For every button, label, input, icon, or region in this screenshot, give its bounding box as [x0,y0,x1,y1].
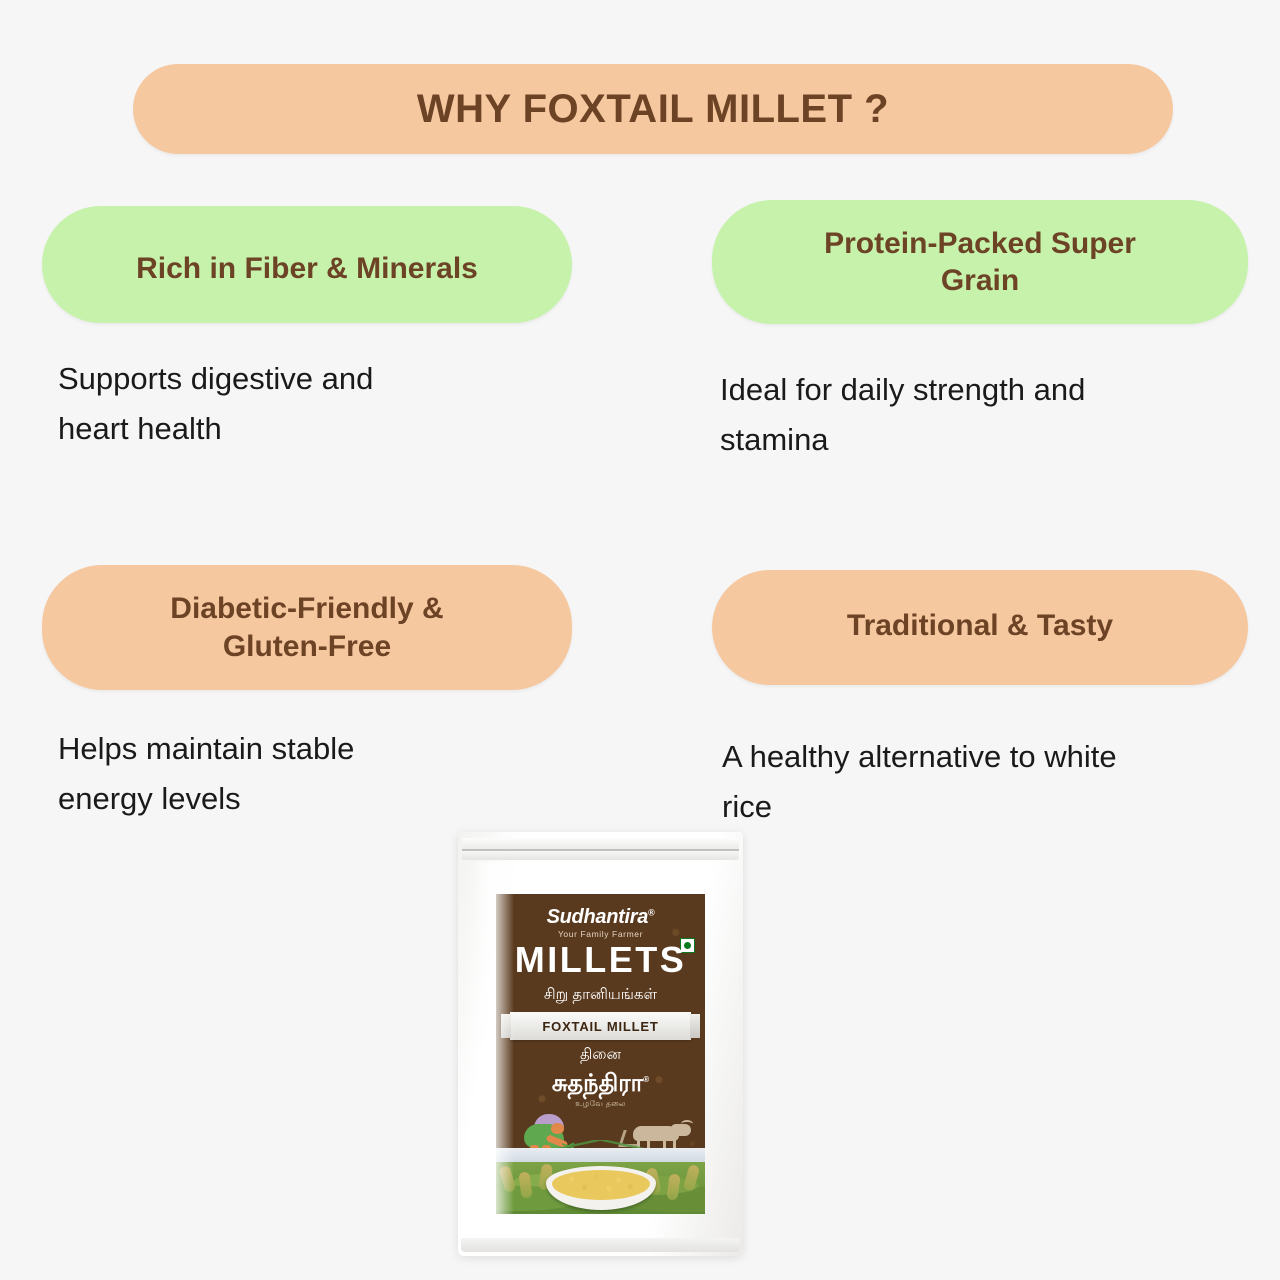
benefit-pill-label: Traditional & Tasty [821,607,1139,645]
pouch-bottom-seal [461,1238,740,1252]
variant-ribbon: FOXTAIL MILLET [510,1012,691,1040]
product-name: MILLETS [496,942,705,978]
registered-trademark-icon: ® [648,907,654,917]
benefit-description-rich-in-fiber-and-minerals: Supports digestive and heart health [58,354,538,454]
registered-trademark-tamil-icon: ® [643,1075,649,1084]
infographic-canvas: WHY FOXTAIL MILLET ? Rich in Fiber & Min… [0,0,1280,1280]
benefit-pill-label: Rich in Fiber & Minerals [110,250,504,288]
brand-logo-text: Sudhantira® [496,906,705,929]
benefit-pill-diabetic-friendly-and-gluten-free: Diabetic-Friendly & Gluten-Free [42,565,572,690]
brand-name-text: Sudhantira [547,906,648,928]
benefit-pill-rich-in-fiber-and-minerals: Rich in Fiber & Minerals [42,206,572,323]
variant-name-tamil: தினை [496,1046,705,1065]
benefit-pill-label: Protein-Packed Super Grain [798,225,1162,300]
benefit-pill-traditional-and-tasty: Traditional & Tasty [712,570,1248,685]
product-package-image: Sudhantira® Your Family Farmer MILLETS ச… [458,832,743,1256]
brand-name-tamil: சுதந்திரா® [496,1070,705,1100]
millet-grains [552,1170,650,1200]
product-name-tamil: சிறு தானியங்கள் [496,986,705,1005]
benefit-description-diabetic-friendly-and-gluten-free: Helps maintain stable energy levels [58,724,538,824]
benefit-description-protein-packed-super-grain: Ideal for daily strength and stamina [720,365,1220,465]
benefit-pill-label: Diabetic-Friendly & Gluten-Free [144,590,469,665]
brand-tagline-tamil: உழவே தலை [496,1099,705,1109]
brand-tamil-text: சுதந்திரா [552,1070,643,1097]
brand-tagline: Your Family Farmer [496,929,705,939]
page-title: WHY FOXTAIL MILLET ? [417,89,889,129]
pouch-front-label: Sudhantira® Your Family Farmer MILLETS ச… [496,894,705,1214]
variant-name: FOXTAIL MILLET [542,1019,658,1034]
pouch-zipper [462,838,739,860]
page-title-banner: WHY FOXTAIL MILLET ? [133,64,1173,154]
benefit-description-traditional-and-tasty: A healthy alternative to white rice [722,732,1242,832]
benefit-pill-protein-packed-super-grain: Protein-Packed Super Grain [712,200,1248,324]
pouch-body: Sudhantira® Your Family Farmer MILLETS ச… [458,832,743,1256]
